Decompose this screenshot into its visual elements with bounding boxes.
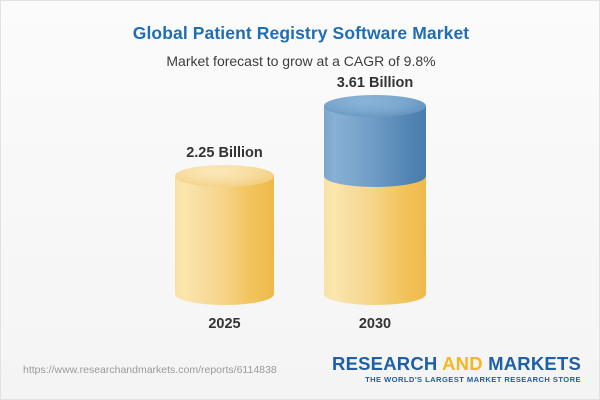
chart-subtitle: Market forecast to grow at a CAGR of 9.8… bbox=[1, 53, 600, 69]
segment-body bbox=[324, 176, 426, 294]
segment-top-cap bbox=[175, 165, 274, 187]
segment-top-cap bbox=[324, 95, 426, 117]
chart-card: Global Patient Registry Software Market … bbox=[0, 0, 600, 400]
page-title: Global Patient Registry Software Market bbox=[1, 23, 600, 44]
cylinder-segment-base bbox=[324, 176, 426, 294]
plot-area: 2.25 Billion 2025 3.61 Billion bbox=[1, 86, 600, 346]
value-label-2030: 3.61 Billion bbox=[337, 75, 414, 91]
logo-tagline: THE WORLD'S LARGEST MARKET RESEARCH STOR… bbox=[332, 375, 581, 384]
segment-body bbox=[175, 176, 274, 294]
category-label-2025: 2025 bbox=[208, 316, 240, 332]
logo-word-markets: MARKETS bbox=[483, 353, 581, 374]
logo-word-research: RESEARCH bbox=[332, 353, 442, 374]
logo[interactable]: RESEARCH AND MARKETS THE WORLD'S LARGEST… bbox=[332, 354, 581, 384]
cylinder-2025 bbox=[175, 176, 274, 294]
cylinder-segment-base bbox=[175, 176, 274, 294]
logo-word-and: AND bbox=[442, 353, 483, 374]
category-label-2030: 2030 bbox=[359, 316, 391, 332]
source-url[interactable]: https://www.researchandmarkets.com/repor… bbox=[23, 364, 277, 376]
footer: https://www.researchandmarkets.com/repor… bbox=[1, 347, 600, 399]
value-label-2025: 2.25 Billion bbox=[186, 145, 263, 161]
cylinder-2030 bbox=[324, 106, 426, 294]
logo-wordmark: RESEARCH AND MARKETS bbox=[332, 354, 581, 373]
cylinder-segment-growth bbox=[324, 106, 426, 176]
